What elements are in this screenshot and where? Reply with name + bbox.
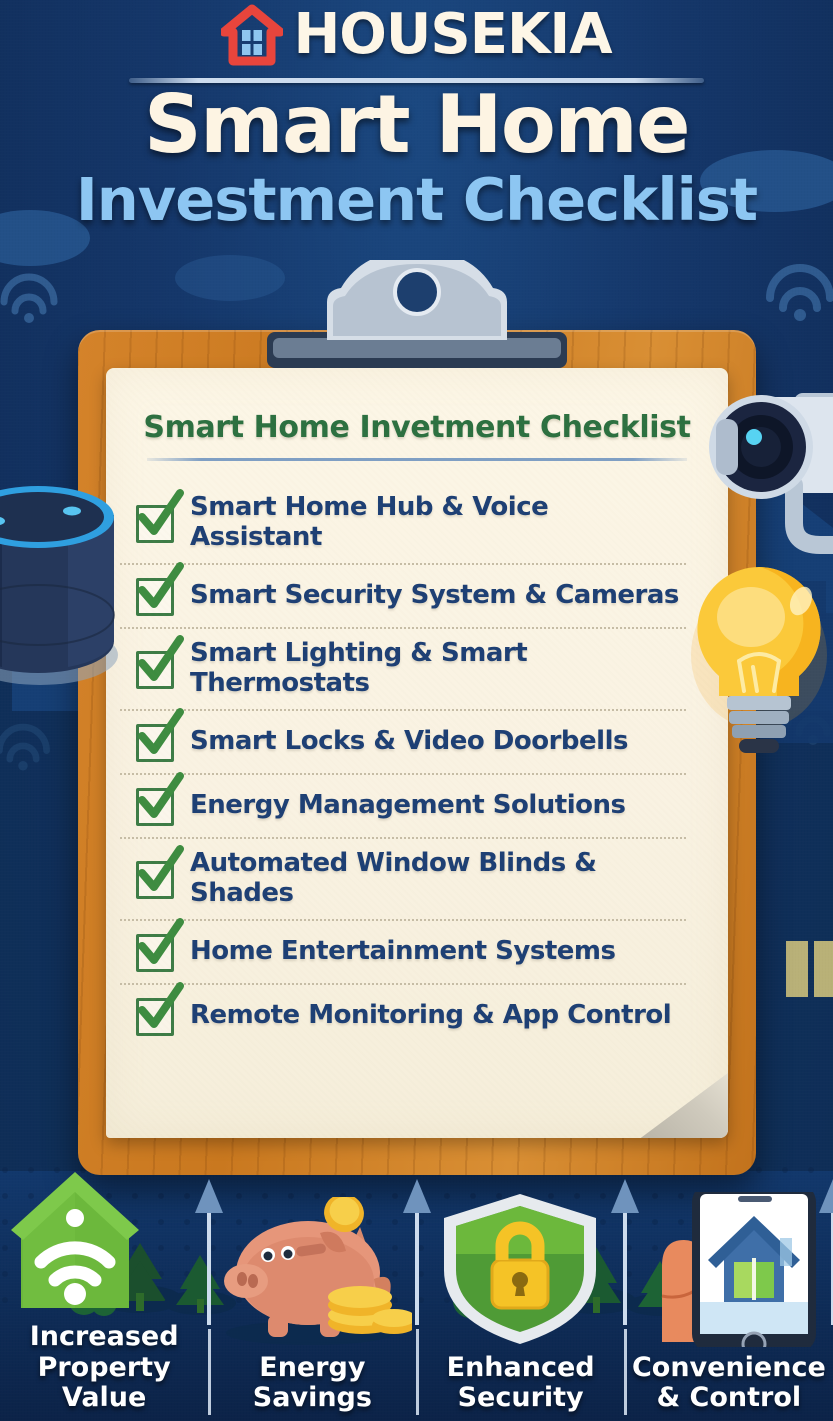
checklist-item-label: Smart Locks & Video Doorbells bbox=[190, 726, 628, 756]
benefit-divider bbox=[416, 1329, 419, 1415]
brand-name: HOUSEKIA bbox=[293, 7, 611, 63]
benefit-item: Convenience & Control bbox=[625, 1181, 833, 1421]
poster-header: HOUSEKIA Smart Home Investment Checklist bbox=[0, 0, 833, 229]
checklist-item-label: Smart Security System & Cameras bbox=[190, 580, 679, 610]
benefit-icon-wrap bbox=[9, 1166, 199, 1316]
benefit-icon-wrap bbox=[212, 1197, 412, 1347]
page-title-line2: Investment Checklist bbox=[0, 170, 833, 229]
checklist-item[interactable]: Home Entertainment Systems bbox=[120, 919, 686, 983]
infographic-poster: HOUSEKIA Smart Home Investment Checklist bbox=[0, 0, 833, 1421]
up-arrow-icon bbox=[194, 1179, 224, 1325]
checklist-item[interactable]: Energy Management Solutions bbox=[120, 773, 686, 837]
checklist-item-label: Remote Monitoring & App Control bbox=[190, 1000, 671, 1030]
checklist-item[interactable]: Automated Window Blinds & Shades bbox=[120, 837, 686, 919]
sheet-title: Smart Home Invetment Checklist bbox=[106, 410, 728, 445]
paper-curl-corner bbox=[638, 1062, 728, 1138]
checklist-item[interactable]: Smart Security System & Cameras bbox=[120, 563, 686, 627]
house-logo-icon bbox=[221, 4, 283, 66]
checkbox-checked-icon[interactable] bbox=[134, 930, 176, 972]
benefit-divider bbox=[208, 1329, 211, 1415]
benefit-label: Increased Property Value bbox=[0, 1322, 208, 1413]
shield-lock-icon bbox=[438, 1192, 603, 1347]
checkbox-checked-icon[interactable] bbox=[134, 994, 176, 1036]
benefits-strip: Increased Property Value bbox=[0, 1181, 833, 1421]
benefit-label: Convenience & Control bbox=[632, 1353, 826, 1413]
checklist-item-label: Home Entertainment Systems bbox=[190, 936, 615, 966]
checkbox-checked-icon[interactable] bbox=[134, 574, 176, 616]
benefit-divider bbox=[624, 1329, 627, 1415]
checkbox-checked-icon[interactable] bbox=[134, 784, 176, 826]
up-arrow-icon bbox=[818, 1179, 833, 1325]
checklist-item-label: Smart Home Hub & Voice Assistant bbox=[190, 492, 686, 552]
clipboard-clip-icon bbox=[267, 260, 567, 370]
smartphone-home-app-icon bbox=[634, 1192, 824, 1347]
brand-row: HOUSEKIA bbox=[0, 2, 833, 68]
checkbox-checked-icon[interactable] bbox=[134, 857, 176, 899]
benefit-item: Energy Savings bbox=[208, 1181, 416, 1421]
checklist-item-label: Energy Management Solutions bbox=[190, 790, 625, 820]
benefit-label: Enhanced Security bbox=[447, 1353, 595, 1413]
checklist-item-label: Smart Lighting & Smart Thermostats bbox=[190, 638, 686, 698]
checklist-item[interactable]: Remote Monitoring & App Control bbox=[120, 983, 686, 1047]
checkbox-checked-icon[interactable] bbox=[134, 501, 176, 543]
checklist-item[interactable]: Smart Lighting & Smart Thermostats bbox=[120, 627, 686, 709]
sheet-title-rule bbox=[147, 458, 687, 461]
piggy-bank-coins-icon bbox=[212, 1197, 412, 1347]
smart-speaker-icon bbox=[0, 405, 128, 705]
green-house-wifi-icon bbox=[9, 1166, 199, 1316]
up-arrow-icon bbox=[402, 1179, 432, 1325]
benefit-icon-wrap bbox=[438, 1197, 603, 1347]
checklist-item[interactable]: Smart Home Hub & Voice Assistant bbox=[120, 483, 686, 563]
checklist-item[interactable]: Smart Locks & Video Doorbells bbox=[120, 709, 686, 773]
security-camera-icon bbox=[698, 385, 833, 575]
page-title-line1: Smart Home bbox=[0, 87, 833, 164]
checkbox-checked-icon[interactable] bbox=[134, 647, 176, 689]
checklist: Smart Home Hub & Voice Assistant Smart S… bbox=[120, 483, 686, 1047]
lightbulb-icon bbox=[689, 555, 833, 765]
benefit-item: Increased Property Value bbox=[0, 1181, 208, 1421]
up-arrow-icon bbox=[610, 1179, 640, 1325]
benefit-icon-wrap bbox=[634, 1197, 824, 1347]
clipboard: Smart Home Invetment Checklist Smart Hom… bbox=[78, 330, 756, 1175]
checklist-item-label: Automated Window Blinds & Shades bbox=[190, 848, 686, 908]
benefit-label: Energy Savings bbox=[253, 1353, 372, 1413]
benefit-item: Enhanced Security bbox=[417, 1181, 625, 1421]
checklist-paper: Smart Home Invetment Checklist Smart Hom… bbox=[106, 368, 728, 1138]
checkbox-checked-icon[interactable] bbox=[134, 720, 176, 762]
